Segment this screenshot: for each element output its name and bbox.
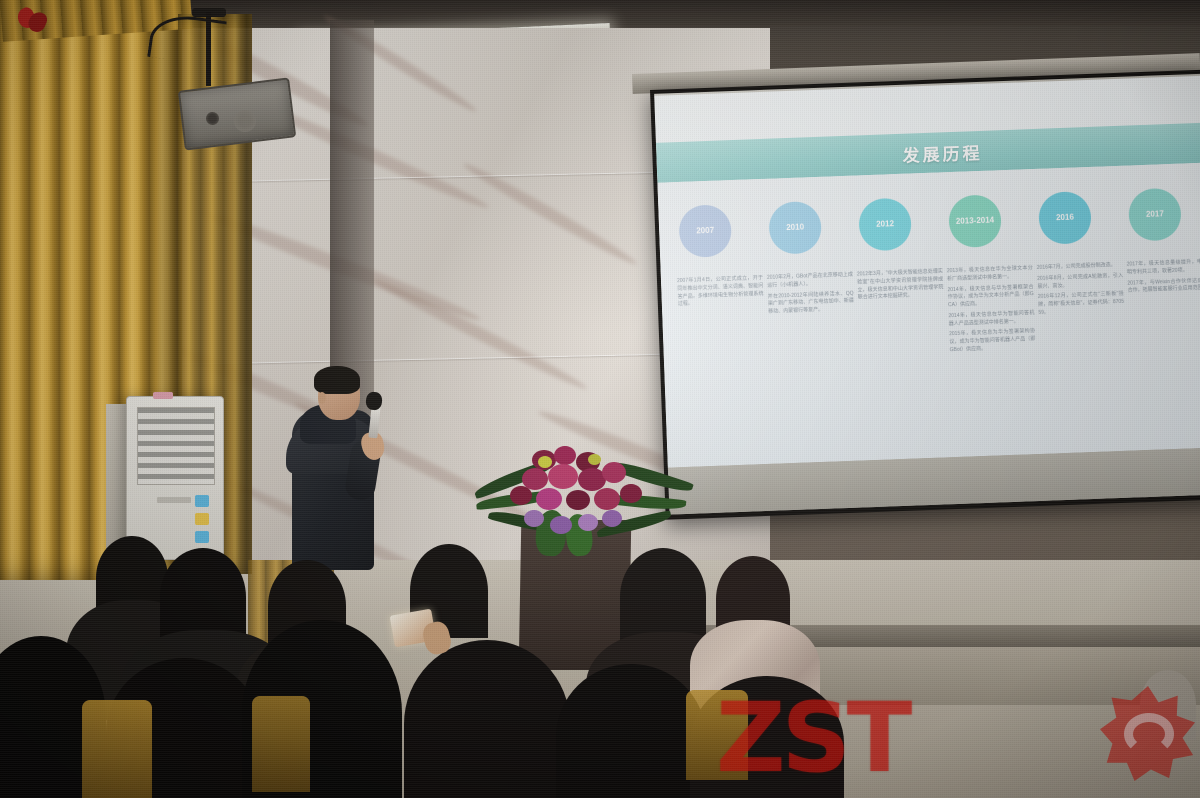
projection-screen: 发展历程 2007 2007年1月4日，公司正式成立，开于同年推出中文分词、语义… [650,70,1200,520]
chair-back [82,700,152,798]
chair-back [686,690,748,780]
timeline-description: 2013年，极天信息在华为全球文本分析厂商选型测试中排名第一。 2014年，极天… [947,265,1036,355]
timeline-item: 2016 2016年7月，公司完成股份制改造。 2016年8月，公司完成A轮融资… [1034,190,1133,443]
timeline-year-circle: 2010 [768,201,822,255]
timeline-item: 2017 2017年，极天信息量级提升，申请发明专利共三项，软著20项。 201… [1124,186,1200,439]
timeline-year-label: 2007 [696,226,714,236]
timeline-year-label: 2017 [1146,210,1164,220]
timeline-item: 2010 2010年2月，GBot产品在北京移动上成运行（小i机器人）。 并在2… [764,200,863,453]
ac-badge-sticker [195,495,209,507]
audience-head-foreground [404,640,570,798]
timeline-item: 2007 2007年1月4日，公司正式成立，开于同年推出中文分词、语义词典、智能… [674,203,773,456]
presenter-ear [318,392,326,404]
ac-top-object [153,392,173,399]
timeline-year-circle: 2017 [1128,188,1182,242]
audience-head-foreground [556,664,706,798]
timeline-year-label: 2013-2014 [956,216,995,227]
red-ribbon-decoration [18,6,48,40]
presenter-hair [314,366,360,394]
timeline-description: 2012年3月，"中大极天智能信息处理实验室"在中山大学资讯管理学院挂牌成立，极… [857,268,944,302]
speaker-mount-rod [206,12,211,86]
floor-standing-air-conditioner [126,396,224,560]
timeline: 2007 2007年1月4日，公司正式成立，开于同年推出中文分词、语义词典、智能… [674,186,1200,456]
timeline-year-label: 2016 [1056,213,1074,223]
slide-title: 发展历程 [902,138,983,166]
floral-arrangement [478,444,686,554]
ac-brand-logo [157,497,191,503]
conference-photo-scene: 发展历程 2007 2007年1月4日，公司正式成立，开于同年推出中文分词、语义… [0,0,1200,798]
timeline-item: 2013-2014 2013年，极天信息在华为全球文本分析厂商选型测试中排名第一… [944,193,1043,446]
timeline-item: 2012 2012年3月，"中大极天智能信息处理实验室"在中山大学资讯管理学院挂… [854,196,953,449]
timeline-year-circle: 2016 [1038,191,1092,245]
timeline-description: 2017年，极天信息量级提升，申请发明专利共三项，软著20项。 2017年，与W… [1127,258,1200,295]
screen-surface: 发展历程 2007 2007年1月4日，公司正式成立，开于同年推出中文分词、语义… [654,74,1200,515]
ac-badge-sticker [195,513,209,525]
slide-body: 2007 2007年1月4日，公司正式成立，开于同年推出中文分词、语义词典、智能… [657,162,1200,467]
timeline-description: 2007年1月4日，公司正式成立，开于同年推出中文分词、语义词典、智能问答产品，… [677,275,764,309]
projected-slide: 发展历程 2007 2007年1月4日，公司正式成立，开于同年推出中文分词、语义… [654,75,1200,467]
audience-head [1140,670,1196,740]
ac-badge-sticker [195,531,209,543]
timeline-year-circle: 2013-2014 [948,194,1002,248]
ac-louver-grille-icon [137,407,215,485]
timeline-description: 2016年7月，公司完成股份制改造。 2016年8月，公司完成A轮融资，引入晨兴… [1037,262,1125,318]
timeline-year-circle: 2012 [858,198,912,252]
chair-back [252,696,310,792]
timeline-year-label: 2010 [786,223,804,233]
timeline-description: 2010年2月，GBot产品在北京移动上成运行（小i机器人）。 并在2010-2… [767,272,854,317]
timeline-year-label: 2012 [876,220,894,230]
timeline-year-circle: 2007 [678,204,732,258]
